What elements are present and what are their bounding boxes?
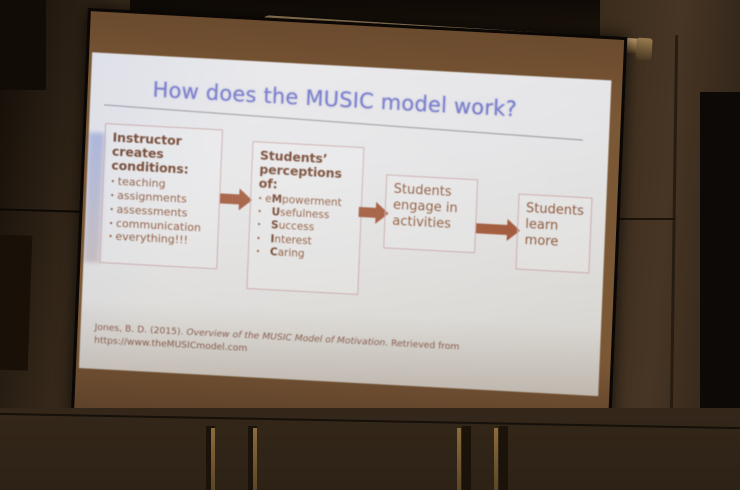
instructor-conditions-list: teaching assignments assessments communi… <box>108 174 213 249</box>
wall-panel-gap <box>462 426 471 490</box>
flow-box-student-perceptions: Students’ perceptions of: eMpowerment Us… <box>246 141 364 295</box>
wall-panel-strip <box>457 428 461 490</box>
arrow-right-icon <box>220 187 253 211</box>
flow-box-engage-text: Students engage in activities <box>392 182 470 234</box>
slide-title: How does the MUSIC model work? <box>152 78 517 122</box>
projection-screen: How does the MUSIC model work? Instructo… <box>71 8 627 445</box>
left-wall-object <box>0 234 32 370</box>
projected-slide: How does the MUSIC model work? Instructo… <box>79 52 612 396</box>
wall-panel-strip <box>253 428 257 490</box>
citation-tail: . Retrieved from <box>385 338 460 353</box>
music-acronym-list: eMpowerment Usefulness Success Interest … <box>256 192 355 263</box>
flow-box-instructor-heading: Instructor creates conditions: <box>111 131 215 178</box>
music-model-flow-diagram: Instructor creates conditions: teaching … <box>95 115 603 342</box>
flow-box-students-engage: Students engage in activities <box>383 174 478 253</box>
flow-box-students-learn: Students learn more <box>515 194 592 274</box>
slide-content: How does the MUSIC model work? Instructo… <box>79 52 612 396</box>
doorway-recess <box>700 92 740 422</box>
flow-box-perceptions-heading: Students’ perceptions of: <box>259 149 357 196</box>
flow-box-instructor: Instructor creates conditions: teaching … <box>99 123 223 269</box>
arrow-right-icon <box>476 217 521 241</box>
projector-screen-roller-bracket <box>635 38 652 61</box>
wall-panel-gap <box>499 426 508 490</box>
wall-panel-strip <box>211 428 215 490</box>
wall-panel-strip <box>494 428 498 490</box>
left-wall-shadow <box>0 0 46 90</box>
flow-box-learn-text: Students learn more <box>524 201 584 252</box>
room-photo: How does the MUSIC model work? Instructo… <box>0 0 740 490</box>
text-line: more <box>524 233 583 252</box>
